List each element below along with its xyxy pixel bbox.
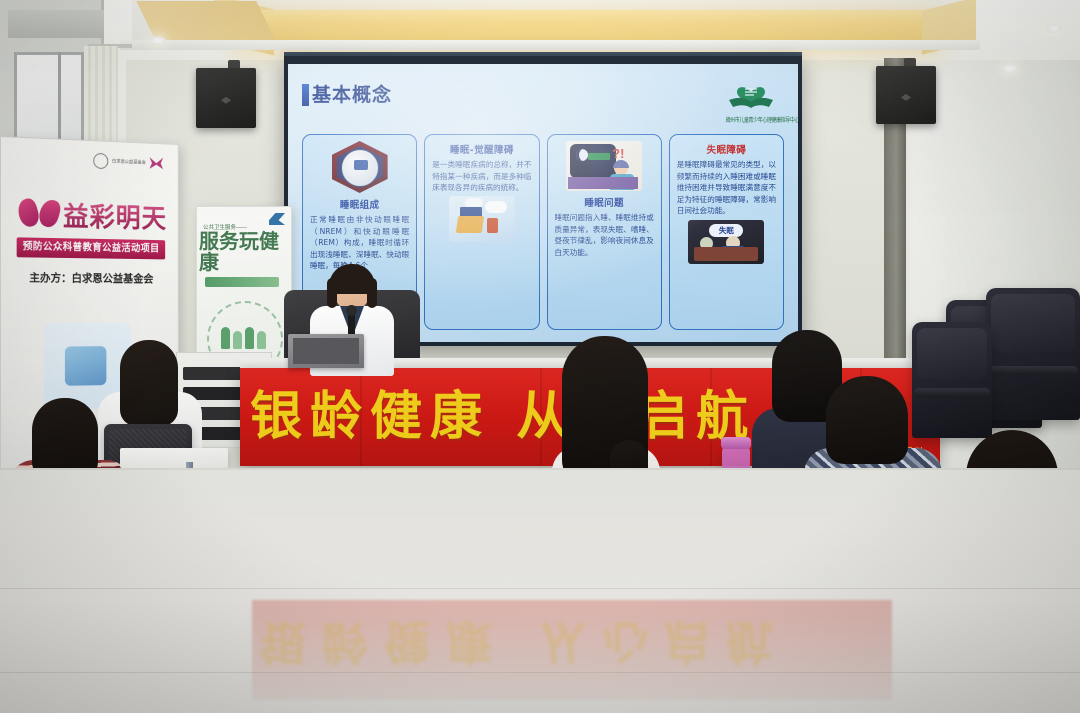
audience-desk: [120, 448, 228, 468]
presenter-laptop: [288, 334, 364, 368]
card-title: 睡眠组成: [340, 197, 380, 211]
butterfly-icon: [150, 157, 164, 169]
standee-green-title: 服务玩健康: [199, 231, 291, 273]
devices-insomnia-icon: [449, 196, 515, 242]
foundation-seal-icon: [93, 153, 108, 169]
standee-subtitle: 预防公众科普教育公益活动项目: [17, 237, 165, 259]
card-body: 正常睡眠由非快动眼睡眠（NREM）和快动眼睡眠（REM）构成，睡眠时循环出现浅睡…: [307, 214, 412, 272]
laptop-screen: [293, 338, 359, 364]
standee-brand-title: 益彩明天: [63, 195, 167, 236]
downlight-icon: [1002, 64, 1018, 73]
downlight-icon: [1046, 24, 1062, 33]
card-body: 是一类睡眠疾病的总称，并不特指某一种疾病，而是多种临床表现各异的疾病的统称。: [429, 159, 534, 194]
lecture-hall-scene: 基本概念 赣州市儿童青少年心理健康指导中心 睡眠组成 正常睡眠由非快动眼睡眠（N…: [0, 0, 1080, 713]
card-title: 睡眠问题: [584, 195, 624, 209]
presenter-hair-side: [367, 278, 377, 308]
people-group-icon: [221, 327, 266, 349]
hexagon-clock-icon: [332, 141, 388, 193]
standee-top-logo-row: 白求恩公益基金会: [93, 151, 172, 173]
downlight-icon: [150, 36, 166, 45]
card-body: 睡眠问题指入睡、睡眠维持或质量异常，表现失眠、嗜睡、昼夜节律乱，影响夜间休息及白…: [552, 212, 657, 258]
insomnia-bubble-label: 失眠: [709, 224, 743, 237]
slide-title: 基本概念: [312, 80, 392, 107]
theatre-chair: [986, 288, 1080, 420]
slide-card-sleep-wake-disorder: 睡眠-觉醒障碍 是一类睡眠疾病的总称，并不特指某一种疾病，而是多种临床表现各异的…: [424, 134, 539, 330]
bottle-cap: [721, 437, 751, 449]
card-title: 睡眠-觉醒障碍: [450, 142, 514, 156]
card-title: 失眠障碍: [707, 142, 747, 156]
butterfly-logo-icon: [19, 196, 60, 231]
floor-tile-line: [0, 672, 1080, 673]
logo-caption: 赣州市儿童青少年心理健康指导中心: [726, 115, 777, 124]
night-moon-person-icon: ?!: [566, 141, 642, 191]
presenter-hair-side: [327, 278, 337, 308]
standee-brand-row: 益彩明天: [19, 194, 167, 236]
floor-tile-line: [0, 588, 1080, 589]
standee-host-line: 主办方：白求恩公益基金会: [1, 269, 180, 286]
health-logo-icon: [269, 213, 285, 225]
standee-green-bar: [205, 277, 279, 287]
window-header: [8, 10, 104, 38]
ceiling-lip: [120, 40, 980, 50]
wall-speaker-icon: [876, 66, 936, 124]
slide-card-sleep-problem: ?! 睡眠问题 睡眠问题指入睡、睡眠维持或质量异常，表现失眠、嗜睡、昼夜节律乱，…: [547, 134, 662, 330]
insomnia-bed-icon: 失眠: [688, 220, 764, 264]
floor-gloss: [0, 470, 1080, 713]
slide-card-insomnia-disorder: 失眠障碍 是睡眠障碍最常见的类型，以频繁而持续的入睡困难或睡眠维持困难并导致睡眠…: [669, 134, 784, 330]
foundation-name: 白求恩公益基金会: [112, 159, 146, 166]
wall-speaker-icon: [196, 68, 256, 128]
heart-book-logo-icon: [725, 76, 777, 110]
cove-light-strip: [238, 10, 938, 42]
card-body: 是睡眠障碍最常见的类型，以频繁而持续的入睡困难或睡眠维持困难并导致睡眠满意度不足…: [674, 159, 779, 217]
center-logo: 赣州市儿童青少年心理健康指导中心: [720, 76, 782, 124]
slide-title-accent: [302, 84, 309, 106]
